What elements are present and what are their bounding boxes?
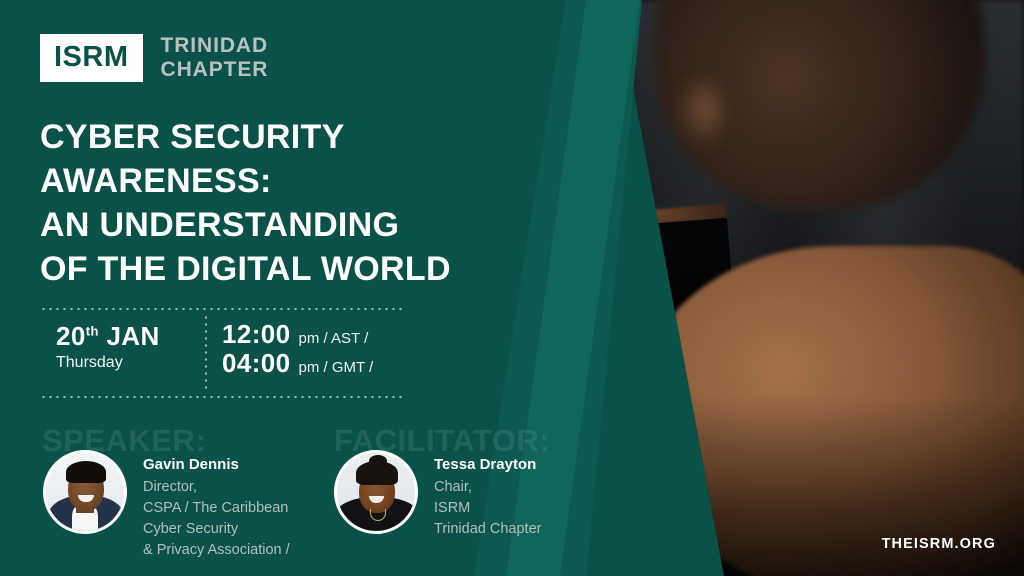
- time-zone-2: pm / GMT /: [299, 360, 374, 377]
- event-date: 20th JAN Thursday: [56, 322, 160, 372]
- speaker-details: Gavin Dennis Director, CSPA / The Caribb…: [143, 450, 290, 562]
- title-line-2: Awareness:: [40, 160, 560, 204]
- date-weekday: Thursday: [56, 354, 160, 372]
- isrm-logo: ISRM: [40, 34, 143, 82]
- facilitator-role-line-3: Trinidad Chapter: [434, 519, 541, 540]
- speaker-role-line-3: Cyber Security: [143, 519, 290, 540]
- page-title: Cyber Security Awareness: An Understandi…: [40, 116, 560, 291]
- event-times: 12:00 pm / AST / 04:00 pm / GMT /: [222, 320, 373, 377]
- speaker-role-line-4: & Privacy Association /: [143, 540, 290, 561]
- time-clock-1: 12:00: [222, 320, 291, 349]
- facilitator-role-line-1: Chair,: [434, 477, 541, 498]
- date-ordinal: th: [86, 323, 99, 338]
- event-flyer: .pq s b _tx ca .d jQuery ls n .r a e c n…: [0, 0, 1024, 576]
- divider-top: [40, 308, 406, 310]
- avatar: [334, 450, 418, 534]
- date-main: 20th JAN: [56, 322, 160, 350]
- facilitator-role-line-2: ISRM: [434, 498, 541, 519]
- chapter-name: Trinidad Chapter: [161, 34, 269, 81]
- time-row-2: 04:00 pm / GMT /: [222, 349, 373, 378]
- time-clock-2: 04:00: [222, 349, 291, 378]
- avatar-facilitator-photo: [337, 453, 415, 531]
- title-line-3: An Understanding: [40, 204, 560, 248]
- title-line-4: Of The Digital World: [40, 248, 560, 292]
- title-line-1: Cyber Security: [40, 116, 560, 160]
- date-number: 20: [56, 321, 86, 351]
- flyer-content: ISRM Trinidad Chapter Cyber Security Awa…: [0, 0, 1024, 576]
- speaker-card: Gavin Dennis Director, CSPA / The Caribb…: [43, 450, 290, 562]
- speaker-role-line-2: CSPA / The Caribbean: [143, 498, 290, 519]
- speaker-name: Gavin Dennis: [143, 454, 290, 477]
- divider-bottom: [40, 396, 406, 398]
- website-url[interactable]: THEISRM.ORG: [882, 536, 996, 552]
- avatar: [43, 450, 127, 534]
- chapter-line-1: Trinidad: [161, 34, 269, 58]
- avatar-speaker-photo: [46, 453, 124, 531]
- facilitator-name: Tessa Drayton: [434, 454, 541, 477]
- time-row-1: 12:00 pm / AST /: [222, 320, 373, 349]
- avatar-hair: [66, 461, 106, 483]
- date-month: JAN: [106, 321, 159, 351]
- chapter-line-2: Chapter: [161, 58, 269, 82]
- facilitator-card: Tessa Drayton Chair, ISRM Trinidad Chapt…: [334, 450, 541, 540]
- speaker-role-line-1: Director,: [143, 477, 290, 498]
- facilitator-details: Tessa Drayton Chair, ISRM Trinidad Chapt…: [434, 450, 541, 540]
- brand-lockup: ISRM Trinidad Chapter: [40, 34, 268, 82]
- time-zone-1: pm / AST /: [299, 331, 369, 348]
- divider-vertical: [205, 314, 207, 392]
- avatar-hair-bun: [369, 455, 387, 467]
